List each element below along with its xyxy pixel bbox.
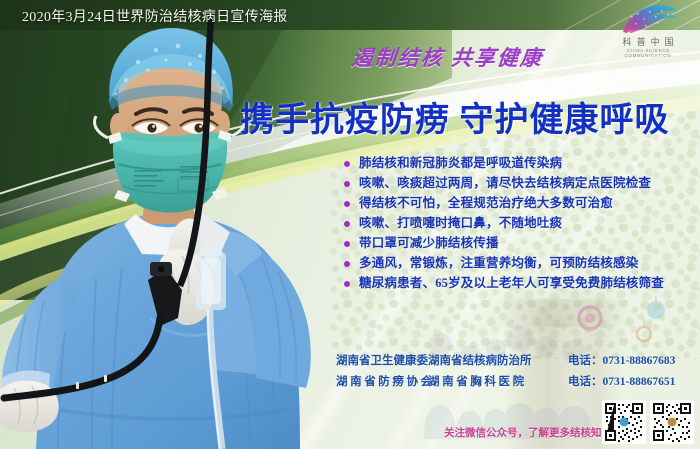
qr-code-right[interactable] (650, 400, 694, 444)
footer-phone-1: 电话：0731-88867683 (568, 352, 675, 368)
bullet-text: 肺结核和新冠肺炎都是呼吸道传染病 (359, 157, 562, 170)
bullet-text: 咳嗽、打喷嚏时掩口鼻，不随地吐痰 (359, 217, 562, 230)
bullet-text: 糖尿病患者、65岁及以上老年人可享受免费肺结核筛查 (359, 277, 664, 290)
footer-contacts: 湖南省卫生健康委 湖南省结核病防治所 电话：0731-88867683 湖南省防… (336, 352, 700, 394)
list-item: 带口罩可减少肺结核传播 (344, 237, 696, 250)
logo-mark-icon (617, 4, 679, 34)
bullet-text: 多通风，常锻炼，注重营养均衡，可预防结核感染 (359, 257, 638, 270)
bullet-dot-icon (344, 241, 350, 247)
wechat-follow-note: 关注微信公众号，了解更多结核知识 (444, 425, 612, 440)
footer-org-3: 湖南省防痨协会 (336, 373, 428, 389)
bullet-dot-icon (344, 201, 350, 207)
bullet-text: 咳嗽、咳痰超过两周，请尽快去结核病定点医院检查 (359, 177, 651, 190)
footer-phone-2: 电话：0731-88867651 (568, 373, 675, 389)
list-item: 得结核不可怕，全程规范治疗绝大多数可治愈 (344, 197, 696, 210)
china-science-communication-logo: 科普中国 CHINA SCIENCE COMMUNICATION (604, 4, 692, 54)
footer-org-2: 湖南省结核病防治所 (428, 352, 546, 368)
doctor-photo (0, 18, 340, 449)
list-item: 多通风，常锻炼，注重营养均衡，可预防结核感染 (344, 257, 696, 270)
bullet-dot-icon (344, 181, 350, 187)
bullet-text: 带口罩可减少肺结核传播 (359, 237, 499, 250)
bullet-list: 肺结核和新冠肺炎都是呼吸道传染病 咳嗽、咳痰超过两周，请尽快去结核病定点医院检查… (344, 157, 696, 297)
bullet-dot-icon (344, 221, 350, 227)
logo-chinese-text: 科普中国 (604, 35, 692, 48)
list-item: 肺结核和新冠肺炎都是呼吸道传染病 (344, 157, 696, 170)
footer-row: 湖南省防痨协会 湖南省胸科医院 电话：0731-88867651 (336, 373, 700, 389)
page-title: 2020年3月24日世界防治结核病日宣传海报 (22, 6, 288, 26)
bullet-dot-icon (344, 261, 350, 267)
bullet-dot-icon (344, 161, 350, 167)
bullet-dot-icon (344, 281, 350, 287)
footer-row: 湖南省卫生健康委 湖南省结核病防治所 电话：0731-88867683 (336, 352, 700, 368)
poster-main-title: 携手抗疫防痨 守护健康呼吸 (240, 92, 670, 141)
list-item: 咳嗽、打喷嚏时掩口鼻，不随地吐痰 (344, 217, 696, 230)
footer-org-4: 湖南省胸科医院 (428, 373, 546, 389)
footer-org-1: 湖南省卫生健康委 (336, 352, 428, 368)
list-item: 咳嗽、咳痰超过两周，请尽快去结核病定点医院检查 (344, 177, 696, 190)
logo-english-text: CHINA SCIENCE COMMUNICATION (604, 48, 692, 58)
poster-subtitle: 遏制结核 共享健康 (350, 42, 544, 72)
poster-canvas: 2020年3月24日世界防治结核病日宣传海报 (0, 0, 700, 449)
bullet-text: 得结核不可怕，全程规范治疗绝大多数可治愈 (359, 197, 613, 210)
qr-code-left[interactable] (602, 400, 646, 444)
list-item: 糖尿病患者、65岁及以上老年人可享受免费肺结核筛查 (344, 277, 696, 290)
